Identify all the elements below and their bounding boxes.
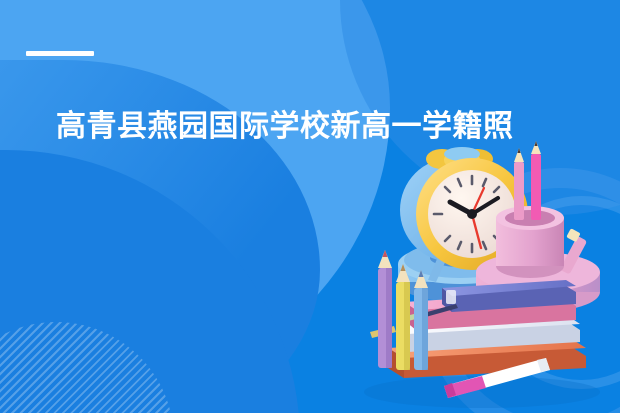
promo-banner: 高青县燕园国际学校新高一学籍照	[0, 0, 620, 413]
pencil-yellow	[396, 264, 410, 370]
pencil-blue	[414, 270, 428, 370]
pencil-pink	[531, 141, 541, 220]
pencil-purple	[378, 250, 392, 368]
pencil-rose	[514, 148, 524, 220]
accent-rule	[26, 51, 94, 56]
school-supplies-illustration	[332, 140, 620, 413]
